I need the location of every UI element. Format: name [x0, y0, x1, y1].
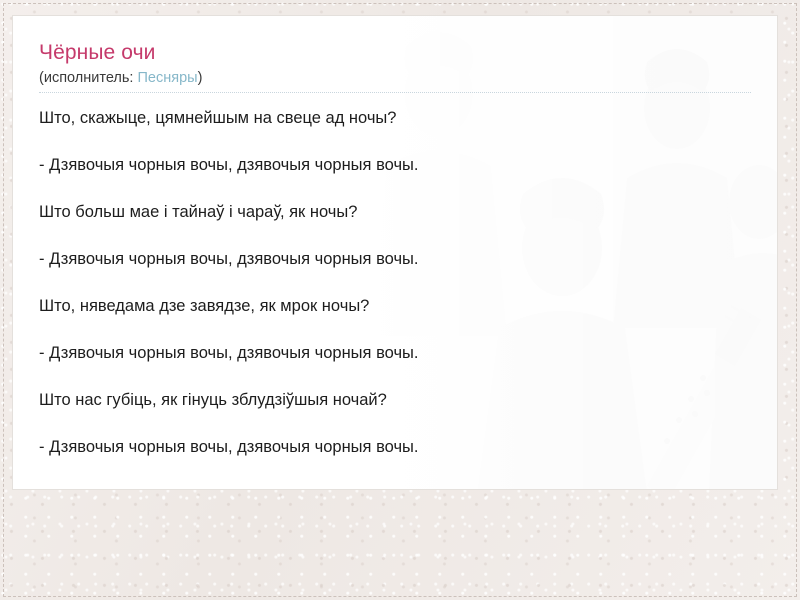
subtitle-label: исполнитель: — [44, 70, 138, 86]
lyric-line: Што, скажыце, цямнейшым на свеце ад ночы… — [39, 107, 751, 129]
slide-header: Чёрные очи (исполнитель: Песняры) — [39, 40, 751, 93]
lyric-line: - Дзявочыя чорныя вочы, дзявочыя чорныя … — [39, 342, 751, 364]
panel-inner: Чёрные очи (исполнитель: Песняры) Што, с… — [13, 16, 777, 458]
lyric-line: - Дзявочыя чорныя вочы, дзявочыя чорныя … — [39, 154, 751, 176]
subtitle-close-paren: ) — [198, 70, 203, 86]
page-title: Чёрные очи — [39, 40, 751, 66]
slide-content-panel: Чёрные очи (исполнитель: Песняры) Што, с… — [12, 15, 778, 490]
lyric-line: - Дзявочыя чорныя вочы, дзявочыя чорныя … — [39, 436, 751, 458]
performer-subtitle: (исполнитель: Песняры) — [39, 68, 751, 88]
lyric-line: - Дзявочыя чорныя вочы, дзявочыя чорныя … — [39, 248, 751, 270]
lyric-line: Што нас губіць, як гінуць зблудзіўшыя но… — [39, 389, 751, 411]
lyrics-list: Што, скажыце, цямнейшым на свеце ад ночы… — [39, 107, 751, 458]
performer-link[interactable]: Песняры — [138, 70, 198, 86]
lyric-line: Што больш мае і тайнаў і чараў, як ночы? — [39, 201, 751, 223]
lyric-line: Што, няведама дзе завядзе, як мрок ночы? — [39, 295, 751, 317]
presentation-slide: Чёрные очи (исполнитель: Песняры) Што, с… — [0, 0, 800, 600]
